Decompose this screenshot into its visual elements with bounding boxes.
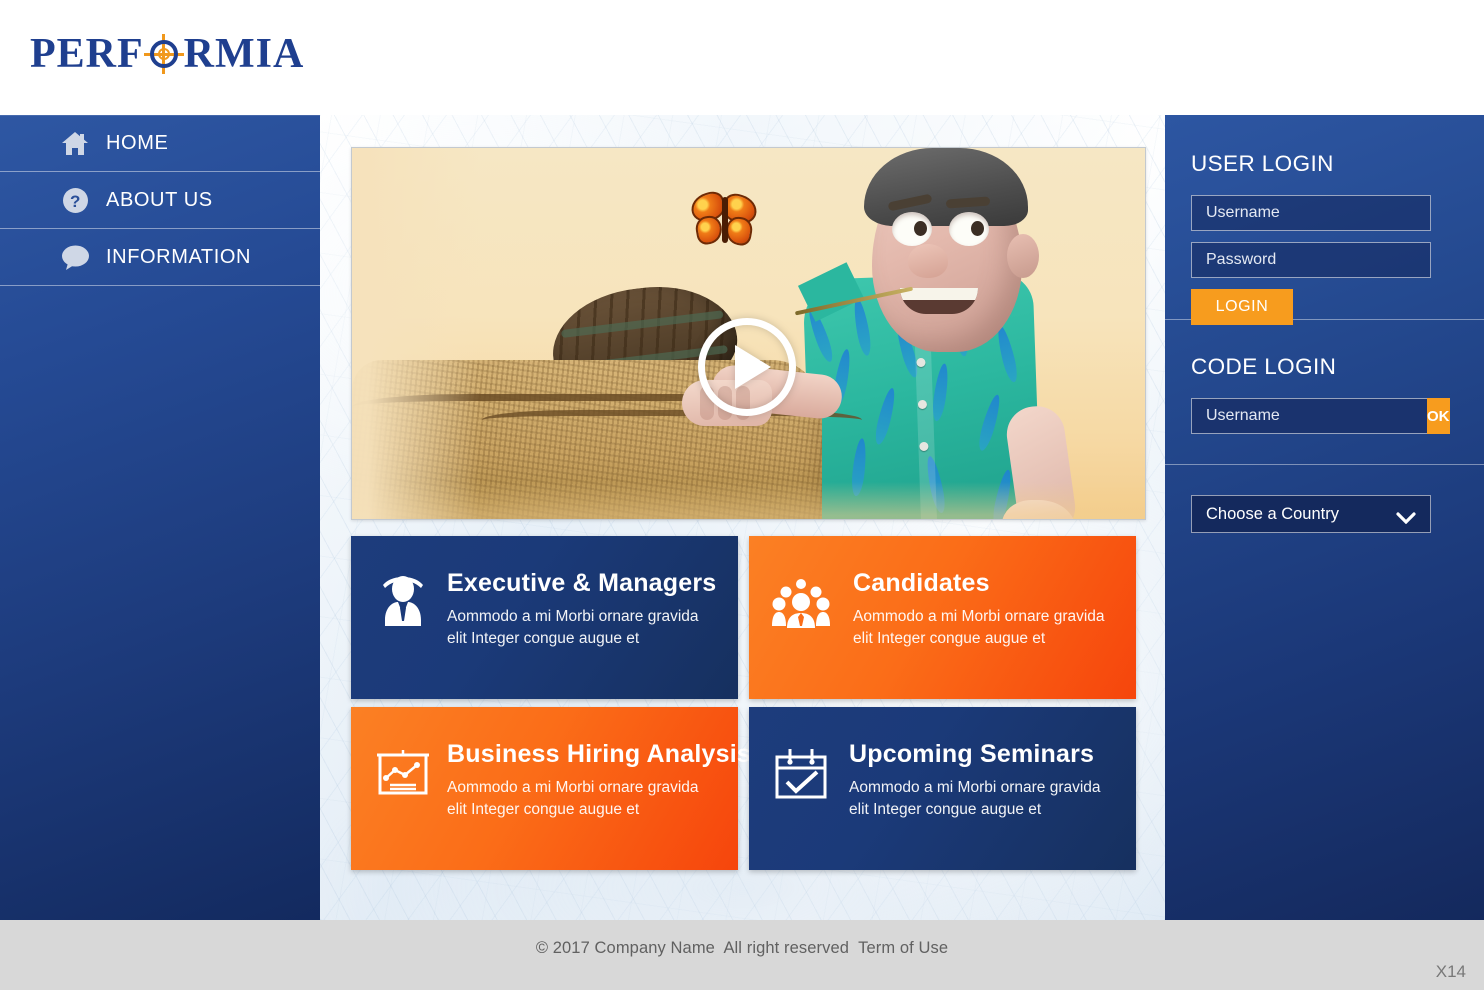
sidebar-item-label: HOME [106, 132, 168, 155]
speech-bubble-icon [60, 242, 90, 272]
username-input[interactable] [1191, 195, 1431, 231]
tile-upcoming-seminars[interactable]: Upcoming Seminars Aommodo a mi Morbi orn… [749, 707, 1136, 870]
people-group-icon [771, 573, 831, 633]
code-login-row: OK [1191, 398, 1431, 434]
hero-video-player[interactable] [351, 147, 1146, 520]
sidebar-item-about-us[interactable]: ? ABOUT US [0, 172, 320, 229]
performia-logo[interactable]: PERF RMIA [30, 33, 304, 75]
play-circle-icon[interactable] [698, 318, 796, 416]
country-section: Choose a Country [1165, 465, 1484, 533]
footer-terms-link[interactable]: Term of Use [858, 939, 948, 957]
tile-title: Executive & Managers [447, 569, 716, 598]
site-header: PERF RMIA [0, 0, 1484, 115]
chevron-down-icon [1396, 510, 1416, 529]
tile-desc-line2: elit Integer congue augue et [853, 630, 1045, 647]
tile-desc-line2: elit Integer congue augue et [447, 801, 639, 818]
character-nose [908, 244, 948, 278]
tile-description: Aommodo a mi Morbi ornare gravida elit I… [447, 606, 716, 651]
sidebar-item-information[interactable]: INFORMATION [0, 229, 320, 286]
tile-text: Upcoming Seminars Aommodo a mi Morbi orn… [845, 740, 1101, 822]
sidebar-item-label: ABOUT US [106, 189, 213, 212]
tile-text: Candidates Aommodo a mi Morbi ornare gra… [849, 569, 1105, 651]
login-panel: USER LOGIN LOGIN CODE LOGIN OK Choose a … [1165, 115, 1484, 920]
code-ok-button[interactable]: OK [1427, 398, 1450, 434]
password-input[interactable] [1191, 242, 1431, 278]
tile-desc-line1: Aommodo a mi Morbi ornare gravida [853, 608, 1105, 625]
sidebar-item-home[interactable]: HOME [0, 115, 320, 172]
svg-text:?: ? [70, 192, 81, 211]
body-area: HOME ? ABOUT US INFORMA [0, 115, 1484, 920]
page-root: PERF RMIA HOME [0, 0, 1484, 990]
calendar-check-icon [771, 744, 831, 804]
tile-desc-line1: Aommodo a mi Morbi ornare gravida [447, 779, 699, 796]
home-icon [60, 129, 90, 159]
character-eye-right [949, 212, 989, 246]
code-login-heading: CODE LOGIN [1191, 354, 1458, 380]
country-dropdown[interactable]: Choose a Country [1191, 495, 1431, 533]
code-login-section: CODE LOGIN OK [1165, 320, 1484, 465]
tile-title: Upcoming Seminars [849, 740, 1101, 769]
tile-candidates[interactable]: Candidates Aommodo a mi Morbi ornare gra… [749, 536, 1136, 699]
chart-presentation-icon [373, 744, 433, 804]
user-login-heading: USER LOGIN [1191, 151, 1458, 177]
footer-rights: All right reserved [723, 939, 849, 957]
footer-text: © 2017 Company Name All right reserved T… [0, 939, 1484, 958]
question-circle-icon: ? [60, 185, 90, 215]
tile-desc-line1: Aommodo a mi Morbi ornare gravida [447, 608, 699, 625]
tile-title: Candidates [853, 569, 1105, 598]
tile-business-hiring-analysis[interactable]: Business Hiring Analysis Aommodo a mi Mo… [351, 707, 738, 870]
corner-label: X14 [1436, 962, 1466, 982]
tile-executive-managers[interactable]: Executive & Managers Aommodo a mi Morbi … [351, 536, 738, 699]
character-ear [1007, 234, 1039, 278]
logo-text-part2: RMIA [184, 33, 305, 75]
country-selected-label: Choose a Country [1206, 505, 1339, 524]
tile-desc-line2: elit Integer congue augue et [849, 801, 1041, 818]
code-username-input[interactable] [1191, 398, 1427, 434]
site-footer: © 2017 Company Name All right reserved T… [0, 920, 1484, 990]
tile-description: Aommodo a mi Morbi ornare gravida elit I… [447, 777, 717, 822]
footer-copyright: © 2017 Company Name [536, 939, 715, 957]
character-hair [864, 148, 1028, 226]
main-content: Executive & Managers Aommodo a mi Morbi … [320, 115, 1165, 920]
businessman-tie-icon [373, 573, 433, 633]
sidebar-nav: HOME ? ABOUT US INFORMA [0, 115, 320, 920]
character-eye-left [892, 212, 932, 246]
user-login-section: USER LOGIN LOGIN [1165, 115, 1484, 320]
tile-title: Business Hiring Analysis [447, 740, 751, 769]
tile-desc-line1: Aommodo a mi Morbi ornare gravida [849, 779, 1101, 796]
crosshair-target-icon [145, 35, 183, 73]
butterfly-icon [689, 191, 761, 253]
sidebar-item-label: INFORMATION [106, 246, 251, 269]
tile-desc-line2: elit Integer congue augue et [447, 630, 639, 647]
tile-text: Executive & Managers Aommodo a mi Morbi … [447, 569, 716, 651]
tile-text: Business Hiring Analysis Aommodo a mi Mo… [447, 740, 751, 822]
logo-text-part1: PERF [30, 33, 144, 75]
tile-description: Aommodo a mi Morbi ornare gravida elit I… [853, 606, 1105, 651]
tile-description: Aommodo a mi Morbi ornare gravida elit I… [849, 777, 1101, 822]
